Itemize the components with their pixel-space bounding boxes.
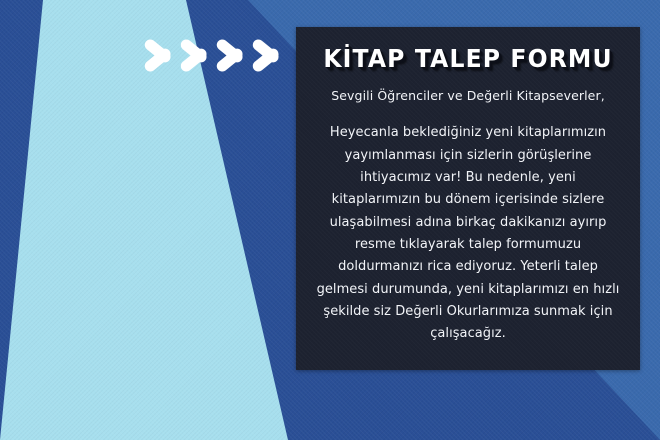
chevron-right-icon — [143, 30, 179, 82]
chevron-right-icon — [251, 30, 287, 82]
content-panel: KİTAP TALEP FORMU Sevgili Öğrenciler ve … — [296, 27, 640, 370]
chevron-right-icon — [179, 30, 215, 82]
poster-canvas: KİTAP TALEP FORMU Sevgili Öğrenciler ve … — [0, 0, 660, 440]
page-title: KİTAP TALEP FORMU — [321, 45, 614, 73]
body-paragraph: Heyecanla beklediğiniz yeni kitaplarımız… — [312, 122, 624, 346]
chevron-arrow-group — [143, 30, 283, 82]
panel-content: KİTAP TALEP FORMU Sevgili Öğrenciler ve … — [312, 45, 624, 346]
chevron-right-icon — [215, 30, 251, 82]
salutation-text: Sevgili Öğrenciler ve Değerli Kitapsever… — [312, 87, 624, 106]
